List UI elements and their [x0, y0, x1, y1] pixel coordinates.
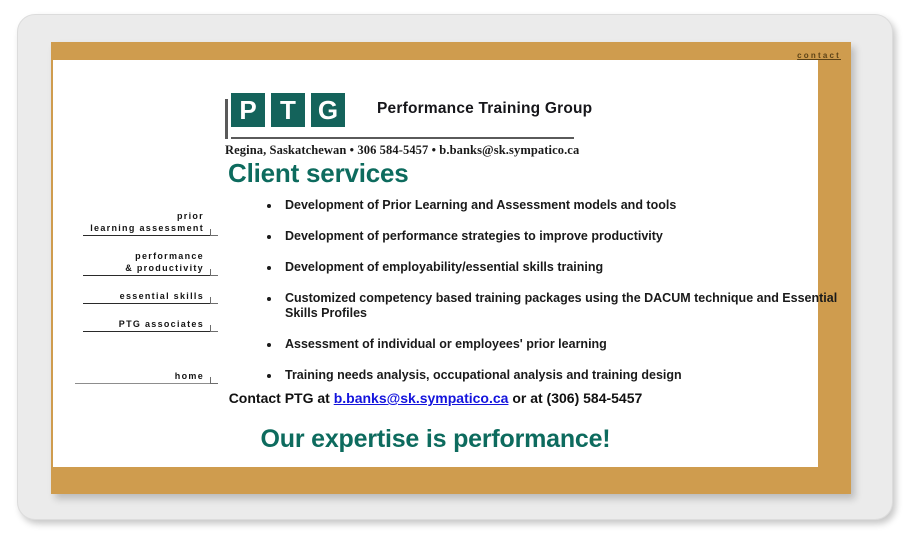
logo-bracket-vertical — [225, 99, 228, 139]
sidebar-underline — [83, 275, 210, 276]
contact-prefix-text: Contact PTG at — [229, 390, 334, 406]
page-content: P T G Performance Training Group Regina,… — [53, 60, 818, 467]
sidebar-item-performance-productivity[interactable]: performance & productivity — [73, 250, 218, 274]
list-item: Development of Prior Learning and Assess… — [263, 198, 863, 213]
logo-row: P T G Performance Training Group — [225, 93, 585, 135]
footer-contact-line: Contact PTG at b.banks@sk.sympatico.ca o… — [53, 390, 818, 406]
company-contact-line: Regina, Saskatchewan • 306 584-5457 • b.… — [225, 143, 579, 158]
sidebar-item-ptg-associates[interactable]: PTG associates — [73, 318, 218, 330]
sidebar-underline — [75, 383, 210, 384]
email-link[interactable]: b.banks@sk.sympatico.ca — [334, 390, 509, 406]
list-item: Development of employability/essential s… — [263, 260, 863, 275]
logo-squares: P T G — [231, 93, 345, 127]
sidebar-nav: prior learning assessment performance & … — [73, 210, 218, 398]
sidebar-item-essential-skills[interactable]: essential skills — [73, 290, 218, 302]
sidebar-underline — [83, 235, 210, 236]
site-logo-header: P T G Performance Training Group Regina,… — [225, 93, 585, 135]
logo-letter-p: P — [231, 93, 265, 127]
sidebar-bracket-icon — [210, 275, 218, 276]
company-name: Performance Training Group — [377, 100, 592, 118]
sidebar-underline — [83, 331, 210, 332]
logo-letter-t: T — [271, 93, 305, 127]
logo-letter-g: G — [311, 93, 345, 127]
sidebar-item-label: prior learning assessment — [73, 210, 204, 234]
page-title: Client services — [228, 158, 409, 189]
sidebar-bracket-icon — [210, 303, 218, 304]
sidebar-bracket-icon — [210, 331, 218, 332]
sidebar-underline — [83, 303, 210, 304]
contact-link[interactable]: contact — [797, 51, 841, 60]
sidebar-item-prior-learning-assessment[interactable]: prior learning assessment — [73, 210, 218, 234]
list-item: Training needs analysis, occupational an… — [263, 368, 863, 383]
sidebar-item-label: performance & productivity — [73, 250, 204, 274]
sidebar-item-home[interactable]: home — [73, 370, 218, 382]
sidebar-item-label: PTG associates — [73, 318, 204, 330]
sidebar-item-label: essential skills — [73, 290, 204, 302]
logo-bracket-horizontal — [231, 137, 574, 139]
list-item: Customized competency based training pac… — [263, 291, 863, 321]
list-item: Assessment of individual or employees' p… — [263, 337, 863, 352]
services-list: Development of Prior Learning and Assess… — [263, 198, 863, 399]
browser-window-frame: contact P T G Performance Training Group… — [17, 14, 893, 520]
sidebar-bracket-icon — [210, 235, 218, 236]
sidebar-bracket-icon — [210, 383, 218, 384]
sidebar-item-label: home — [73, 370, 204, 382]
list-item: Development of performance strategies to… — [263, 229, 863, 244]
tagline: Our expertise is performance! — [53, 425, 818, 454]
contact-suffix-text: or at (306) 584-5457 — [508, 390, 642, 406]
